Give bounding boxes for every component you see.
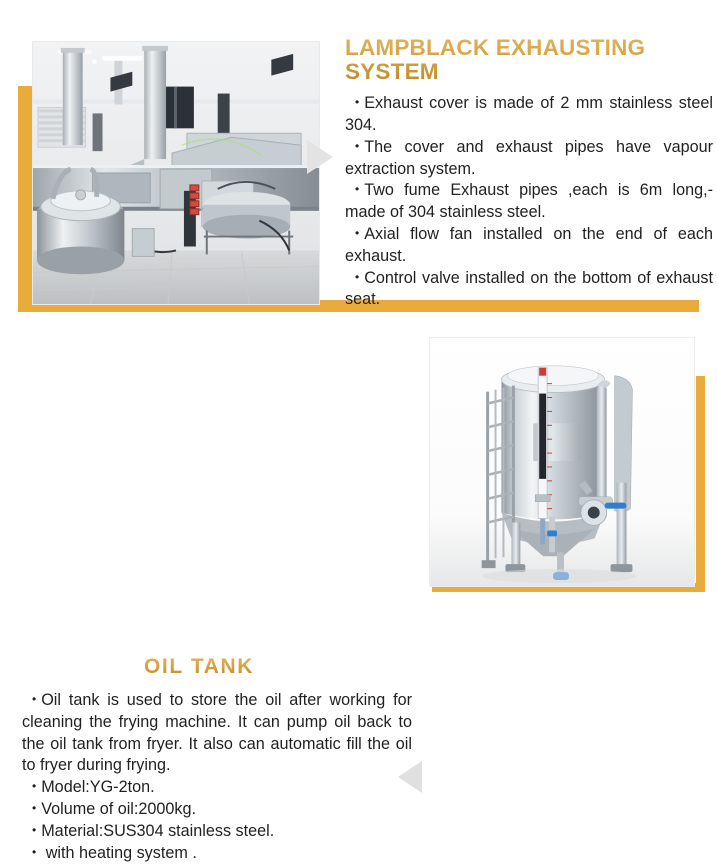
bullet-item: The cover and exhaust pipes have vapour …	[345, 137, 713, 181]
bullet-item: Two fume Exhaust pipes ,each is 6m long,…	[345, 180, 713, 224]
bullet-item: Control valve installed on the bottom of…	[345, 268, 713, 312]
oil-tank-text-block: OIL TANK Oil tank is used to store the o…	[22, 656, 412, 864]
bullets-oil-tank: Oil tank is used to store the oil after …	[22, 690, 412, 864]
product-spec-page: LAMPBLACK EXHAUSTING SYSTEM Exhaust cove…	[0, 0, 717, 610]
bullet-item: Axial flow fan installed on the end of e…	[345, 224, 713, 268]
lampblack-text-block: LAMPBLACK EXHAUSTING SYSTEM Exhaust cove…	[345, 36, 713, 311]
heading-lampblack: LAMPBLACK EXHAUSTING SYSTEM	[345, 36, 713, 83]
photo-oil-tank	[429, 337, 695, 587]
accent-bar-left	[18, 86, 33, 312]
bullets-lampblack: Exhaust cover is made of 2 mm stainless …	[345, 93, 713, 311]
bullet-item: with heating system .	[22, 843, 412, 864]
photo-frying-line	[32, 41, 320, 305]
bullet-item: Exhaust cover is made of 2 mm stainless …	[345, 93, 713, 137]
bullet-item: Volume of oil:2000kg.	[22, 799, 412, 821]
section-lampblack-exhausting-system: LAMPBLACK EXHAUSTING SYSTEM Exhaust cove…	[0, 0, 717, 318]
bullet-item: Material:SUS304 stainless steel.	[22, 821, 412, 843]
accent-bar-right	[696, 376, 705, 591]
bullet-item: Model:YG-2ton.	[22, 777, 412, 799]
bullet-item: Oil tank is used to store the oil after …	[22, 690, 412, 777]
heading-oil-tank: OIL TANK	[22, 656, 412, 678]
section-oil-tank: OIL TANK Oil tank is used to store the o…	[0, 318, 717, 610]
arrow-right-icon	[307, 140, 333, 174]
